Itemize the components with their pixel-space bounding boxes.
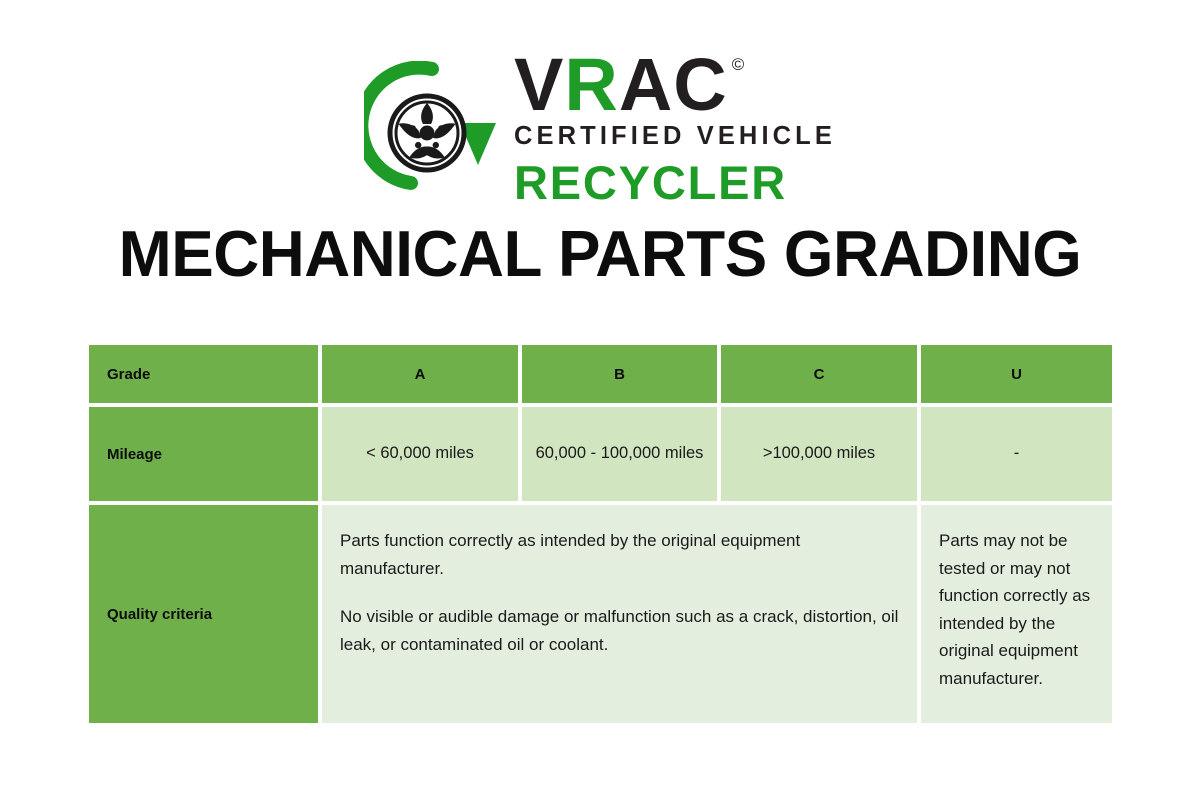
quality-criteria-grade-u: Parts may not be tested or may not funct…: [919, 503, 1114, 725]
poster-canvas: VRAC© CERTIFIED VEHICLE RECYCLER MECHANI…: [0, 0, 1200, 800]
mileage-grade-u: -: [919, 405, 1114, 503]
logo-tagline: CERTIFIED VEHICLE: [514, 122, 836, 151]
quality-paragraph-2: No visible or audible damage or malfunct…: [340, 603, 901, 658]
page-title: MECHANICAL PARTS GRADING: [12, 216, 1188, 291]
table-row-mileage: Mileage < 60,000 miles 60,000 - 100,000 …: [87, 405, 1114, 503]
mechanical-parts-grading-table: Grade A B C U Mileage < 60,000 miles 60,…: [87, 343, 1114, 725]
logo-recycler-word: RECYCLER: [514, 155, 787, 210]
row-label-mileage: Mileage: [87, 405, 320, 503]
mileage-grade-b: 60,000 - 100,000 miles: [520, 405, 719, 503]
logo-letter-v: V: [514, 52, 564, 117]
quality-criteria-grades-abc: Parts function correctly as intended by …: [320, 503, 919, 725]
header-column-u: U: [919, 343, 1114, 405]
recycling-wheel-icon: [364, 61, 500, 201]
mileage-grade-c: >100,000 miles: [719, 405, 919, 503]
quality-paragraph-1: Parts function correctly as intended by …: [340, 527, 901, 582]
vrac-logo: VRAC© CERTIFIED VEHICLE RECYCLER: [0, 52, 1200, 210]
logo-wordmark: VRAC©: [514, 52, 745, 117]
table-row-quality-criteria: Quality criteria Parts function correctl…: [87, 503, 1114, 725]
mileage-grade-a: < 60,000 miles: [320, 405, 520, 503]
logo-letter-r: R: [564, 52, 618, 117]
logo-letters-ac: AC: [619, 52, 728, 117]
row-label-quality-criteria: Quality criteria: [87, 503, 320, 725]
header-grade-label: Grade: [87, 343, 320, 405]
header-column-b: B: [520, 343, 719, 405]
header-column-a: A: [320, 343, 520, 405]
table-header-row: Grade A B C U: [87, 343, 1114, 405]
copyright-icon: ©: [732, 56, 746, 73]
header-column-c: C: [719, 343, 919, 405]
